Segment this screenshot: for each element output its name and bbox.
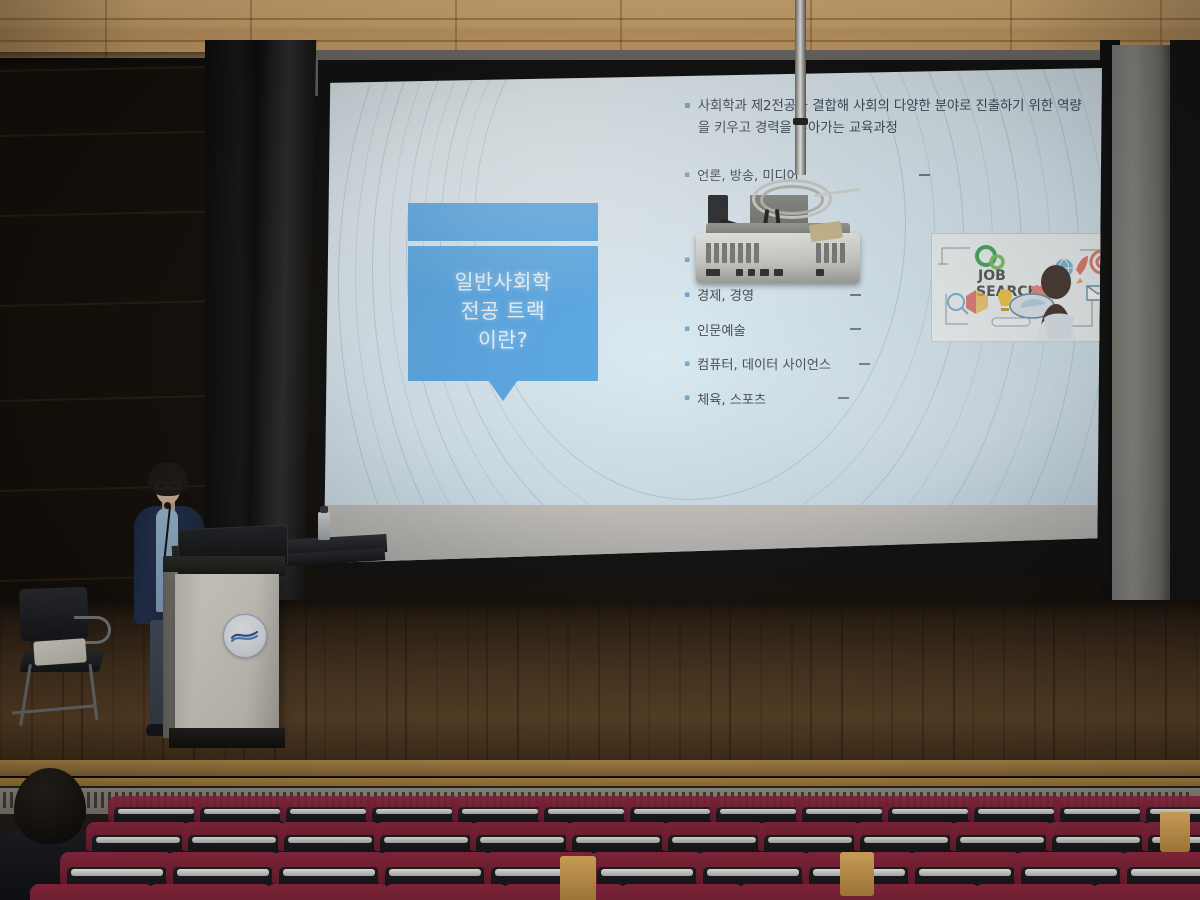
seat-highlight	[192, 837, 275, 843]
job-search-illustration: JOB SEARCH	[932, 234, 1102, 341]
seat-highlight	[672, 837, 755, 843]
seat-back	[620, 884, 744, 900]
seat-highlight	[177, 869, 268, 876]
seat-highlight	[806, 809, 883, 814]
seat-highlight	[384, 837, 467, 843]
projector-mount-pole	[795, 0, 806, 175]
track-list-item: ▪컴퓨터, 데이터 사이언스	[684, 354, 1084, 373]
seat-highlight	[389, 869, 480, 876]
stage-chair	[8, 588, 113, 738]
podium	[163, 556, 285, 752]
speaker-hair	[148, 462, 188, 496]
podium-base	[169, 728, 285, 748]
bullet-marker-icon: ▪	[684, 324, 690, 334]
audience-seat	[384, 884, 508, 900]
seat-highlight	[480, 837, 563, 843]
seat-highlight	[576, 837, 659, 843]
seat-highlight	[960, 837, 1043, 843]
stage-edge	[0, 760, 1200, 776]
papers-on-chair	[33, 638, 87, 666]
chair-leg	[19, 664, 32, 726]
podium-front-panel	[175, 574, 279, 734]
seat-back	[1092, 884, 1200, 900]
audience-seat	[1092, 884, 1200, 900]
seat-highlight	[288, 837, 371, 843]
title-line-3: 이란?	[416, 326, 590, 355]
lead-bullet: ▪ 사회학과 제2전공을 결합해 사회의 다양한 분야로 진출하기 위한 역량을…	[684, 96, 1084, 139]
audience-seat	[856, 884, 980, 900]
seat-highlight	[978, 809, 1055, 814]
seat-highlight	[462, 809, 539, 814]
job-search-image: JOB SEARCH	[931, 233, 1102, 342]
seat-highlight	[283, 869, 374, 876]
seat-back	[148, 884, 272, 900]
speech-bubble-top-bar	[408, 203, 598, 241]
seat-highlight	[601, 869, 692, 876]
track-list-item-dash	[919, 174, 930, 176]
water-bottle-cap	[320, 506, 328, 513]
speech-bubble-title: 일반사회학 전공 트랙 이란?	[408, 203, 598, 381]
projection-screen: 일반사회학 전공 트랙 이란? ▪ 사회학과 제2전공을 결합해 사회의 다양한…	[324, 68, 1102, 563]
track-list-item-label: 체육, 스포츠	[697, 389, 766, 408]
microphone-head-icon	[164, 502, 171, 509]
audience-seat	[974, 884, 1098, 900]
seat-highlight	[864, 837, 947, 843]
seat-highlight	[1025, 869, 1116, 876]
seat-highlight	[707, 869, 798, 876]
bullet-marker-icon: ▪	[684, 290, 690, 300]
title-line-2: 전공 트랙	[416, 297, 590, 326]
track-list-item-dash	[850, 294, 861, 296]
seat-highlight	[376, 809, 453, 814]
university-emblem	[223, 614, 267, 658]
aisle-wood-seat	[1160, 812, 1190, 852]
track-list-item-dash	[838, 397, 849, 399]
curtain-right	[1112, 45, 1174, 645]
track-list-item: ▪체육, 스포츠	[684, 389, 1084, 408]
projector-pole-ring	[793, 118, 808, 125]
bullet-marker-icon: ▪	[684, 96, 691, 139]
podium-top	[163, 556, 285, 576]
seat-highlight	[1064, 809, 1141, 814]
seat-highlight	[71, 869, 162, 876]
seat-back	[856, 884, 980, 900]
aisle-wood-seat	[560, 856, 596, 900]
university-emblem-wave-icon	[231, 629, 259, 643]
track-list-item-dash	[850, 328, 861, 330]
bullet-marker-icon: ▪	[684, 393, 690, 403]
track-list-item-label: 컴퓨터, 데이터 사이언스	[697, 354, 831, 373]
aisle-wood-seat	[840, 852, 874, 896]
seat-highlight	[290, 809, 367, 814]
audience-seat	[148, 884, 272, 900]
seat-highlight	[892, 809, 969, 814]
seat-back	[30, 884, 154, 900]
audience-seat	[620, 884, 744, 900]
water-bottle	[318, 512, 330, 540]
seat-back	[266, 884, 390, 900]
projector-cable-coil-2	[760, 185, 824, 215]
seat-highlight	[634, 809, 711, 814]
seat-highlight	[1056, 837, 1139, 843]
audience-seat	[266, 884, 390, 900]
curtain-right-outer	[1170, 40, 1200, 660]
seat-back	[384, 884, 508, 900]
audience-seat	[30, 884, 154, 900]
seat-highlight	[768, 837, 851, 843]
ceiling-projector	[690, 165, 865, 290]
seat-highlight	[96, 837, 179, 843]
seat-back	[974, 884, 1098, 900]
seat-highlight	[118, 809, 195, 814]
audience-member-hair	[14, 768, 86, 844]
track-list-item-dash	[859, 363, 870, 365]
seat-highlight	[204, 809, 281, 814]
seat-highlight	[919, 869, 1010, 876]
track-list-item-label: 인문예술	[697, 320, 746, 339]
auditorium-photo: 일반사회학 전공 트랙 이란? ▪ 사회학과 제2전공을 결합해 사회의 다양한…	[0, 0, 1200, 900]
title-line-1: 일반사회학	[416, 268, 590, 297]
seat-highlight	[1131, 869, 1200, 876]
svg-text:JOB: JOB	[977, 268, 1006, 284]
slide-content: 일반사회학 전공 트랙 이란? ▪ 사회학과 제2전공을 결합해 사회의 다양한…	[324, 68, 1102, 563]
seat-highlight	[720, 809, 797, 814]
bullet-marker-icon: ▪	[684, 359, 690, 369]
lead-bullet-text: 사회학과 제2전공을 결합해 사회의 다양한 분야로 진출하기 위한 역량을 키…	[698, 96, 1084, 139]
seat-highlight	[548, 809, 625, 814]
speech-bubble-tail	[488, 380, 518, 401]
speech-bubble-body: 일반사회학 전공 트랙 이란?	[408, 246, 598, 381]
glasses-icon	[156, 482, 180, 488]
chair-leg	[89, 664, 99, 720]
